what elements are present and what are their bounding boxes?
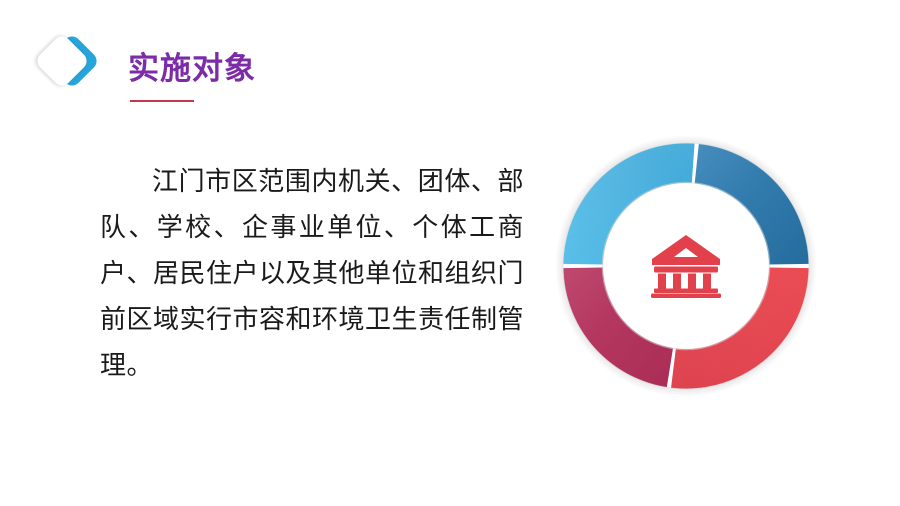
bank-column-1 [658,274,666,290]
diamond-bullet-icon [40,38,96,94]
bank-pediment [652,235,720,265]
page-title: 实施对象 [128,50,256,88]
slide-canvas: 实施对象 江门市区范围内机关、团体、部队、学校、企事业单位、个体工商户、居民住户… [0,0,900,506]
body-paragraph: 江门市区范围内机关、团体、部队、学校、企事业单位、个体工商户、居民住户以及其他单… [100,158,524,388]
slide-header: 实施对象 [0,0,420,120]
bank-column-3 [688,274,696,290]
bank-architrave [654,267,718,273]
bank-icon [636,221,736,311]
donut-chart [555,135,817,397]
bank-icon-svg [650,233,722,299]
bank-base-lower [651,294,721,299]
diamond-bullet-front-shape [34,33,91,90]
bank-column-4 [703,274,711,290]
bank-column-2 [673,274,681,290]
title-underline [130,100,194,102]
bank-base-upper [654,289,718,294]
